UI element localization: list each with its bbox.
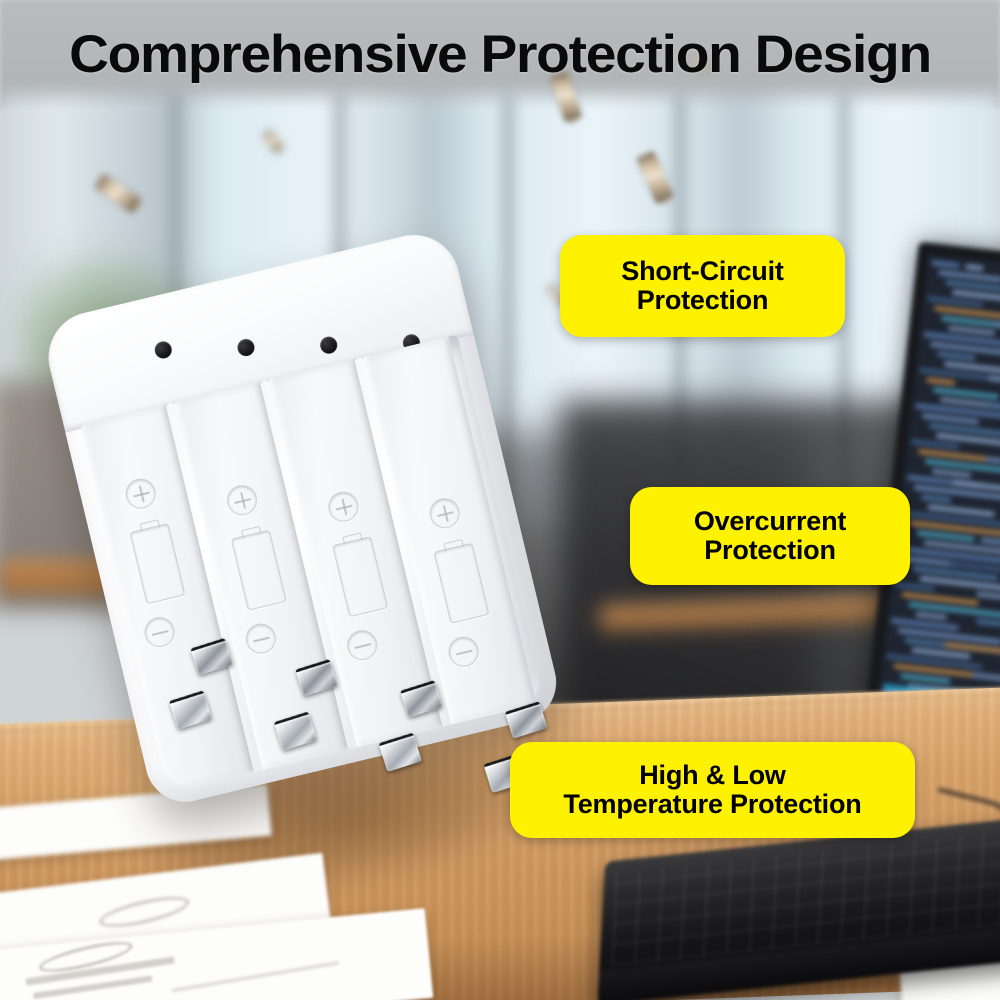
plus-polarity-icon bbox=[325, 489, 361, 525]
minus-polarity-icon bbox=[243, 621, 279, 657]
page-title: Comprehensive Protection Design bbox=[0, 24, 1000, 85]
battery-outline-icon bbox=[129, 523, 185, 604]
paper-mark bbox=[97, 891, 192, 933]
led-indicator-hole-1 bbox=[153, 340, 173, 360]
minus-polarity-icon bbox=[141, 614, 177, 650]
badge-high-low-temperature-protection: High & LowTemperature Protection bbox=[510, 742, 915, 838]
led-indicator-hole-2 bbox=[236, 337, 256, 357]
code-line bbox=[976, 619, 1000, 632]
code-line bbox=[900, 673, 950, 684]
code-line bbox=[926, 377, 955, 385]
code-line bbox=[915, 612, 946, 620]
code-line bbox=[976, 591, 1000, 605]
code-line bbox=[932, 469, 971, 478]
code-line bbox=[972, 672, 1000, 685]
badge-label: OvercurrentProtection bbox=[694, 507, 846, 565]
code-line bbox=[931, 260, 959, 268]
code-line bbox=[895, 582, 935, 591]
code-line bbox=[921, 494, 951, 502]
code-line bbox=[948, 325, 995, 335]
plus-polarity-icon bbox=[427, 495, 463, 531]
badge-short-circuit-protection: Short-CircuitProtection bbox=[560, 235, 845, 337]
minus-polarity-icon bbox=[344, 627, 380, 663]
battery-outline-icon bbox=[231, 530, 287, 611]
battery-outline-icon bbox=[433, 543, 489, 624]
paper-text-line bbox=[171, 961, 339, 993]
code-line bbox=[989, 375, 1000, 389]
badge-label: High & LowTemperature Protection bbox=[563, 761, 861, 819]
product-marketing-image: Short-CircuitProtectionOvercurrentProtec… bbox=[0, 0, 1000, 1000]
badge-label: Short-CircuitProtection bbox=[621, 257, 783, 315]
minus-polarity-icon bbox=[445, 634, 481, 670]
badge-overcurrent-protection: OvercurrentProtection bbox=[630, 487, 910, 585]
charger-body bbox=[39, 226, 564, 810]
code-line bbox=[965, 264, 983, 271]
code-line bbox=[906, 556, 955, 567]
plus-polarity-icon bbox=[123, 476, 159, 512]
led-indicator-hole-3 bbox=[318, 335, 338, 355]
battery-outline-icon bbox=[332, 536, 388, 617]
plus-polarity-icon bbox=[224, 482, 260, 518]
code-line bbox=[911, 439, 959, 449]
code-line bbox=[937, 351, 975, 360]
